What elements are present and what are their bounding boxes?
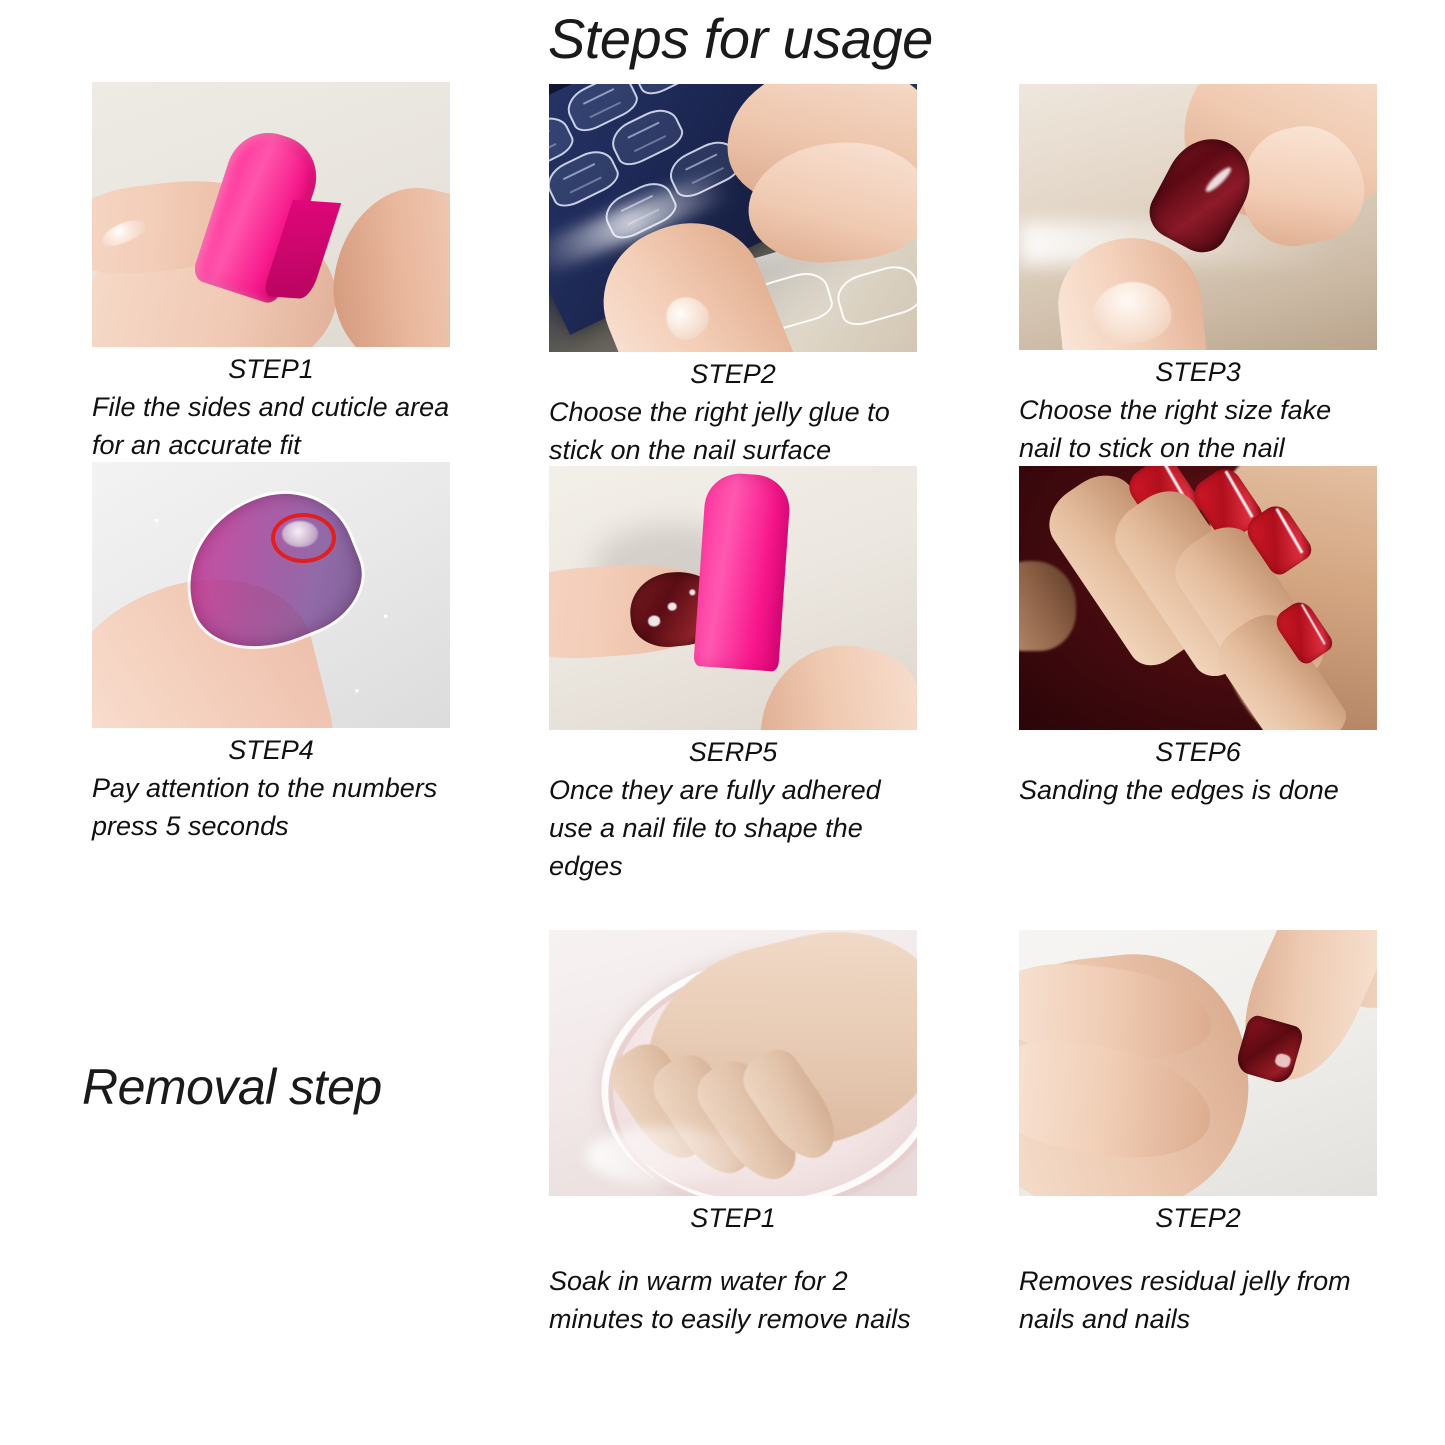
step-6-photo [1019, 466, 1377, 730]
fingernail [99, 215, 149, 251]
glue-tab [627, 84, 709, 100]
step-label: STEP4 [92, 734, 450, 768]
step-label: STEP3 [1019, 356, 1377, 390]
step-label: STEP2 [549, 358, 917, 392]
thumb [317, 173, 450, 347]
step-5-photo [549, 466, 917, 730]
removal-1-caption: STEP1 Soak in warm water for 2 minutes t… [549, 1202, 917, 1338]
step-label: STEP1 [92, 353, 450, 387]
fingernail [657, 288, 716, 347]
natural-fingernail [1088, 279, 1174, 348]
step-label: STEP2 [1019, 1202, 1377, 1236]
step-description: Soak in warm water for 2 minutes to easi… [549, 1262, 917, 1339]
step-card-2: STEP2 Choose the right jelly glue to sti… [549, 84, 917, 469]
step-card-4: STEP4 Pay attention to the numbers press… [92, 462, 450, 845]
step-label: STEP1 [549, 1202, 917, 1236]
step-label: SERP5 [549, 736, 917, 770]
gloss-highlight [648, 615, 660, 626]
step-card-5: SERP5 Once they are fully adhered use a … [549, 466, 917, 886]
step-description: File the sides and cuticle area for an a… [92, 388, 450, 465]
step-3-photo [1019, 84, 1377, 350]
step-label: STEP6 [1019, 736, 1377, 770]
removal-2-photo [1019, 930, 1377, 1196]
step-5-caption: SERP5 Once they are fully adhered use a … [549, 736, 917, 886]
step-description: Choose the right jelly glue to stick on … [549, 393, 917, 470]
removal-2-caption: STEP2 Removes residual jelly from nails … [1019, 1202, 1377, 1338]
step-card-1: STEP1 File the sides and cuticle area fo… [92, 82, 450, 464]
water-surface-sheen [586, 1127, 748, 1186]
pink-nail-file [693, 471, 791, 672]
removal-card-1: STEP1 Soak in warm water for 2 minutes t… [549, 930, 917, 1338]
step-description: Removes residual jelly from nails and na… [1019, 1262, 1377, 1339]
step-2-caption: STEP2 Choose the right jelly glue to sti… [549, 358, 917, 469]
glue-tab [833, 261, 917, 331]
thumb-shadowed [1019, 561, 1076, 651]
gloss-highlight [689, 589, 695, 595]
step-card-3: STEP3 Choose the right size fake nail to… [1019, 84, 1377, 467]
step-description: Sanding the edges is done [1019, 771, 1377, 809]
step-1-photo [92, 82, 450, 347]
step-4-caption: STEP4 Pay attention to the numbers press… [92, 734, 450, 845]
removal-1-photo [549, 930, 917, 1196]
step-3-caption: STEP3 Choose the right size fake nail to… [1019, 356, 1377, 467]
step-4-photo [92, 462, 450, 728]
thumbnail [442, 342, 450, 347]
step-description: Once they are fully adhered use a nail f… [549, 771, 917, 886]
step-1-caption: STEP1 File the sides and cuticle area fo… [92, 353, 450, 464]
gloss-highlight [667, 601, 676, 610]
step-6-caption: STEP6 Sanding the edges is done [1019, 736, 1377, 809]
gloss-highlight [1204, 165, 1234, 195]
step-description: Choose the right size fake nail to stick… [1019, 391, 1377, 468]
removal-section-title: Removal step [82, 1058, 382, 1116]
step-description: Pay attention to the numbers press 5 sec… [92, 769, 450, 846]
removal-card-2: STEP2 Removes residual jelly from nails … [1019, 930, 1377, 1338]
red-circle-annotation-icon [271, 513, 336, 564]
step-card-6: STEP6 Sanding the edges is done [1019, 466, 1377, 809]
step-2-photo [549, 84, 917, 352]
page-title: Steps for usage [548, 6, 1048, 71]
